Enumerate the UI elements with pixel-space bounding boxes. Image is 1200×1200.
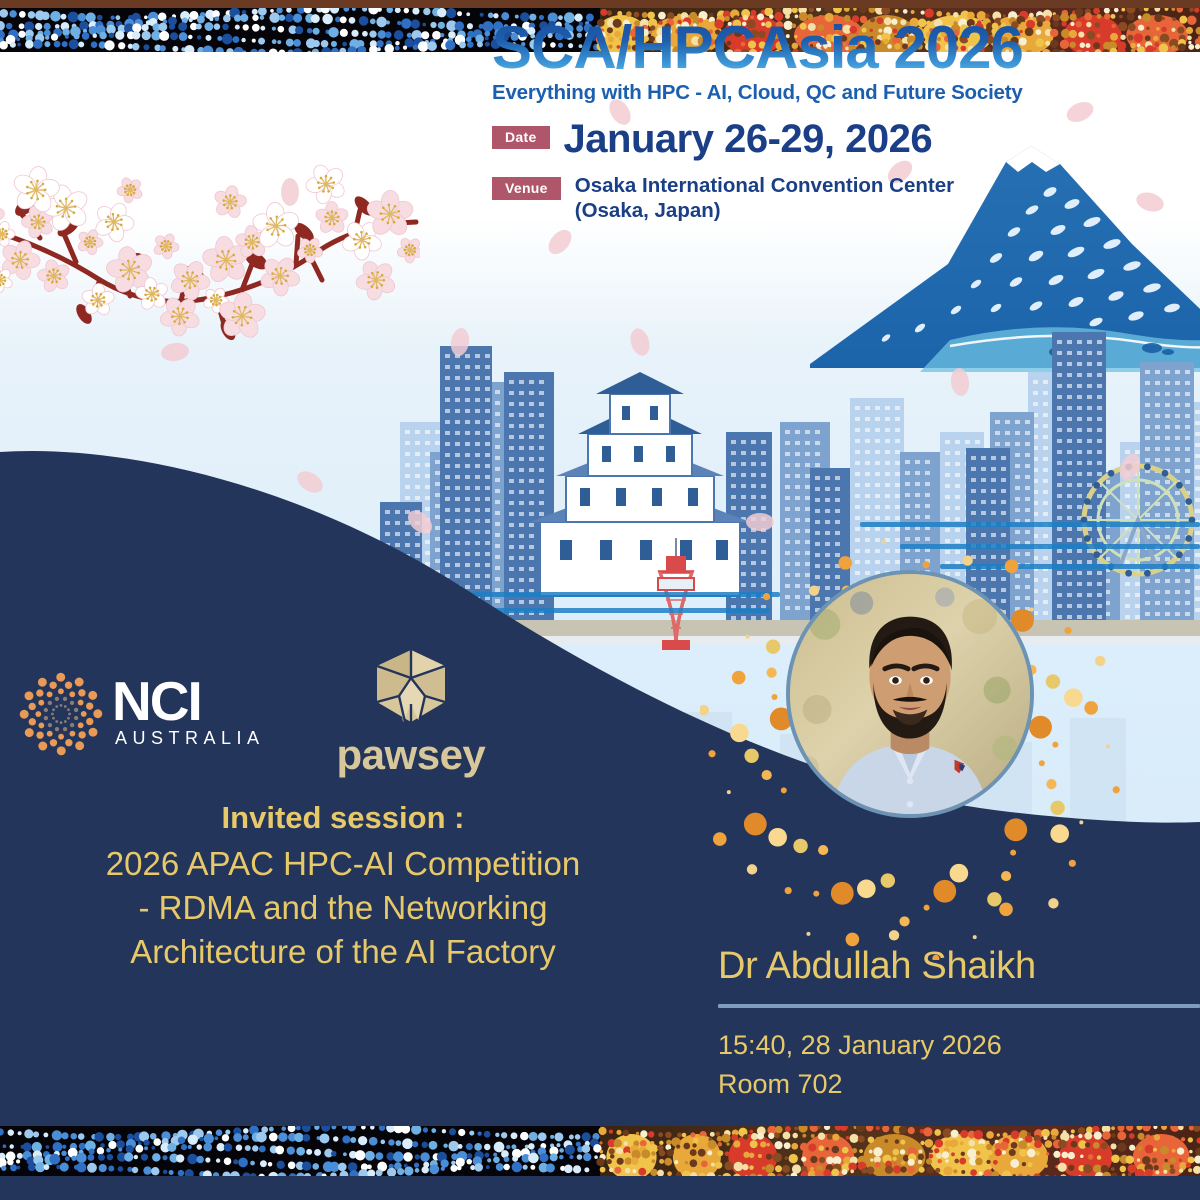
session-title-line-2: - RDMA and the Networking — [0, 886, 686, 930]
sponsor-logo-nci: NCI AUSTRALIA — [18, 671, 265, 757]
venue-label-chip: Venue — [492, 177, 561, 200]
nci-spiral-dots-icon — [18, 671, 104, 757]
speaker-divider — [718, 1004, 1200, 1008]
sponsor-logo-pawsey: pawsey — [337, 648, 486, 779]
avatar — [790, 574, 1030, 814]
pawsey-cube-icon — [375, 648, 447, 724]
speaker-name: Dr Abdullah Shaikh — [718, 945, 1200, 988]
venue-row: Venue Osaka International Convention Cen… — [492, 173, 1092, 223]
conference-tagline: Everything with HPC - AI, Cloud, QC and … — [492, 81, 1092, 105]
session-kicker: Invited session : — [0, 800, 686, 836]
venue-line-1: Osaka International Convention Center — [575, 173, 954, 198]
session-title-block: Invited session : 2026 APAC HPC-AI Compe… — [0, 800, 686, 974]
speaker-info-block: Dr Abdullah Shaikh 15:40, 28 January 202… — [718, 945, 1200, 1104]
date-label-chip: Date — [492, 126, 550, 149]
border-brown-strip — [0, 0, 1200, 8]
conference-header: SCA/HPCAsia 2026 Everything with HPC - A… — [492, 18, 1092, 223]
speaker-portrait — [786, 570, 1034, 818]
page-title: SCA/HPCAsia 2026 — [492, 18, 1092, 78]
nci-subtitle: AUSTRALIA — [115, 728, 265, 749]
speaker-time: 15:40, 28 January 2026 — [718, 1026, 1200, 1065]
sponsor-logos: NCI AUSTRALIA pawsey — [18, 648, 485, 779]
session-title-line-1: 2026 APAC HPC-AI Competition — [0, 842, 686, 886]
pawsey-name: pawsey — [337, 731, 486, 779]
nci-name: NCI — [112, 678, 265, 725]
date-value: January 26-29, 2026 — [564, 119, 933, 159]
poster-canvas: SCA/HPCAsia 2026 Everything with HPC - A… — [0, 0, 1200, 1200]
session-title-line-3: Architecture of the AI Factory — [0, 930, 686, 974]
aboriginal-dot-art-band-icon — [0, 1126, 1200, 1176]
venue-line-2: (Osaka, Japan) — [575, 198, 954, 223]
speaker-room: Room 702 — [718, 1065, 1200, 1104]
date-row: Date January 26-29, 2026 — [492, 119, 1092, 159]
